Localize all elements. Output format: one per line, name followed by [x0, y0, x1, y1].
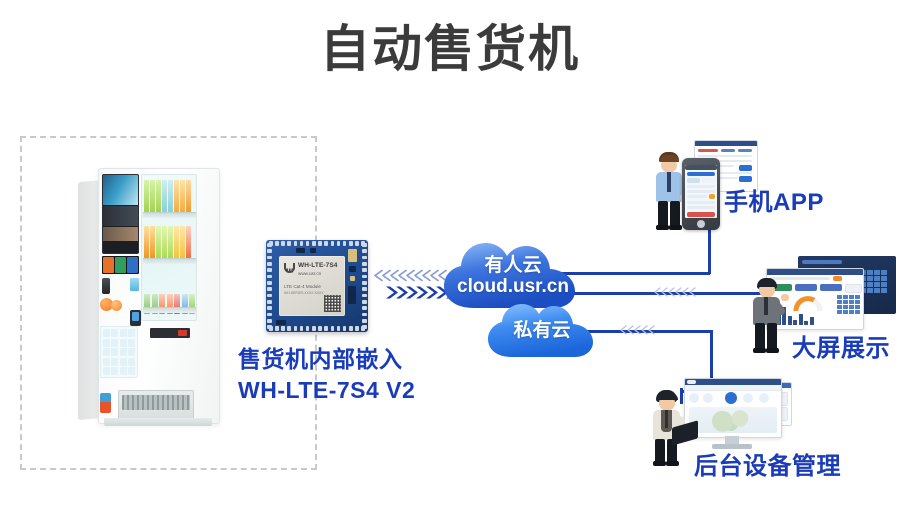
- lte-module-board: WH-LTE-7S4 www.usr.cn LTE Cat-4 Module W…: [266, 240, 368, 332]
- page-title: 自动售货机: [0, 22, 900, 77]
- vending-machine: [78, 168, 220, 426]
- dashboard-subbar: [685, 385, 781, 391]
- module-caption-line1: 售货机内部嵌入: [238, 340, 403, 374]
- module-pads-right: [362, 243, 367, 329]
- screen-ad-low: [103, 227, 138, 241]
- node-bigscreen-label: 大屏展示: [792, 328, 890, 363]
- desktop-monitor[interactable]: [684, 378, 780, 450]
- module-type-text: LTE Cat-4 Module: [284, 284, 321, 289]
- module-caption-line2: WH-LTE-7S4 V2: [238, 377, 415, 404]
- shelf-rail: [143, 258, 197, 264]
- cloud-shape-icon: [484, 300, 600, 362]
- qr-payment-terminal[interactable]: [130, 310, 141, 326]
- product-shelf: [142, 223, 196, 264]
- bottle-row: [144, 180, 191, 213]
- coin-return-knobs[interactable]: [100, 298, 130, 312]
- vending-machine-quick-buttons[interactable]: [102, 256, 139, 274]
- product-display-window: [141, 174, 197, 321]
- smartphone[interactable]: [682, 158, 720, 230]
- module-pads-top: [269, 241, 365, 246]
- window-titlebar: [695, 141, 757, 146]
- dashboard-header: [767, 269, 863, 275]
- module-fineprint-text: WH-SERIES-XXXX-XXXX: [284, 291, 324, 296]
- person-presenter: [748, 278, 790, 336]
- module-website-text: www.usr.cn: [298, 271, 321, 276]
- usr-logo-icon: [283, 262, 296, 273]
- module-pads-left: [267, 243, 272, 329]
- person-admin: [648, 390, 698, 466]
- emergency-button[interactable]: [100, 393, 111, 413]
- node-backend-label: 后台设备管理: [694, 446, 841, 481]
- module-qr-code: [324, 295, 341, 312]
- cloud-private[interactable]: 私有云: [484, 300, 600, 362]
- node-bigscreen: [748, 256, 898, 336]
- module-model-text: WH-LTE-7S4: [298, 262, 338, 269]
- module-pads-bottom: [269, 326, 365, 331]
- dashboard-map: [689, 407, 777, 433]
- vending-machine-keypad[interactable]: [100, 326, 138, 378]
- smartphone-home-button[interactable]: [697, 220, 705, 228]
- coin-slot[interactable]: [102, 278, 110, 294]
- monitor-screen[interactable]: [684, 378, 782, 438]
- vending-machine-touchscreen[interactable]: [102, 174, 139, 254]
- node-mobile-app-label: 手机APP: [724, 182, 824, 217]
- dashboard-data-grid: [837, 295, 860, 314]
- product-shelf: [142, 269, 196, 319]
- diagram-canvas: 自动售货机: [0, 0, 900, 524]
- shelf-rail: [143, 307, 197, 313]
- screen-ad-mid: [103, 206, 138, 226]
- screen-ad-top: [103, 175, 138, 205]
- bigscreen-link-chevrons-icon: [650, 286, 702, 298]
- smartphone-screen[interactable]: [685, 165, 717, 218]
- backend-link-chevrons-icon: [616, 324, 658, 336]
- module-shield-can: WH-LTE-7S4 www.usr.cn LTE Cat-4 Module W…: [279, 256, 345, 316]
- vending-machine-base: [104, 418, 212, 426]
- price-display: [150, 328, 190, 338]
- card-reader[interactable]: [130, 278, 139, 291]
- product-shelf: [142, 177, 196, 218]
- bottle-row: [144, 226, 191, 259]
- shelf-rail: [143, 212, 197, 218]
